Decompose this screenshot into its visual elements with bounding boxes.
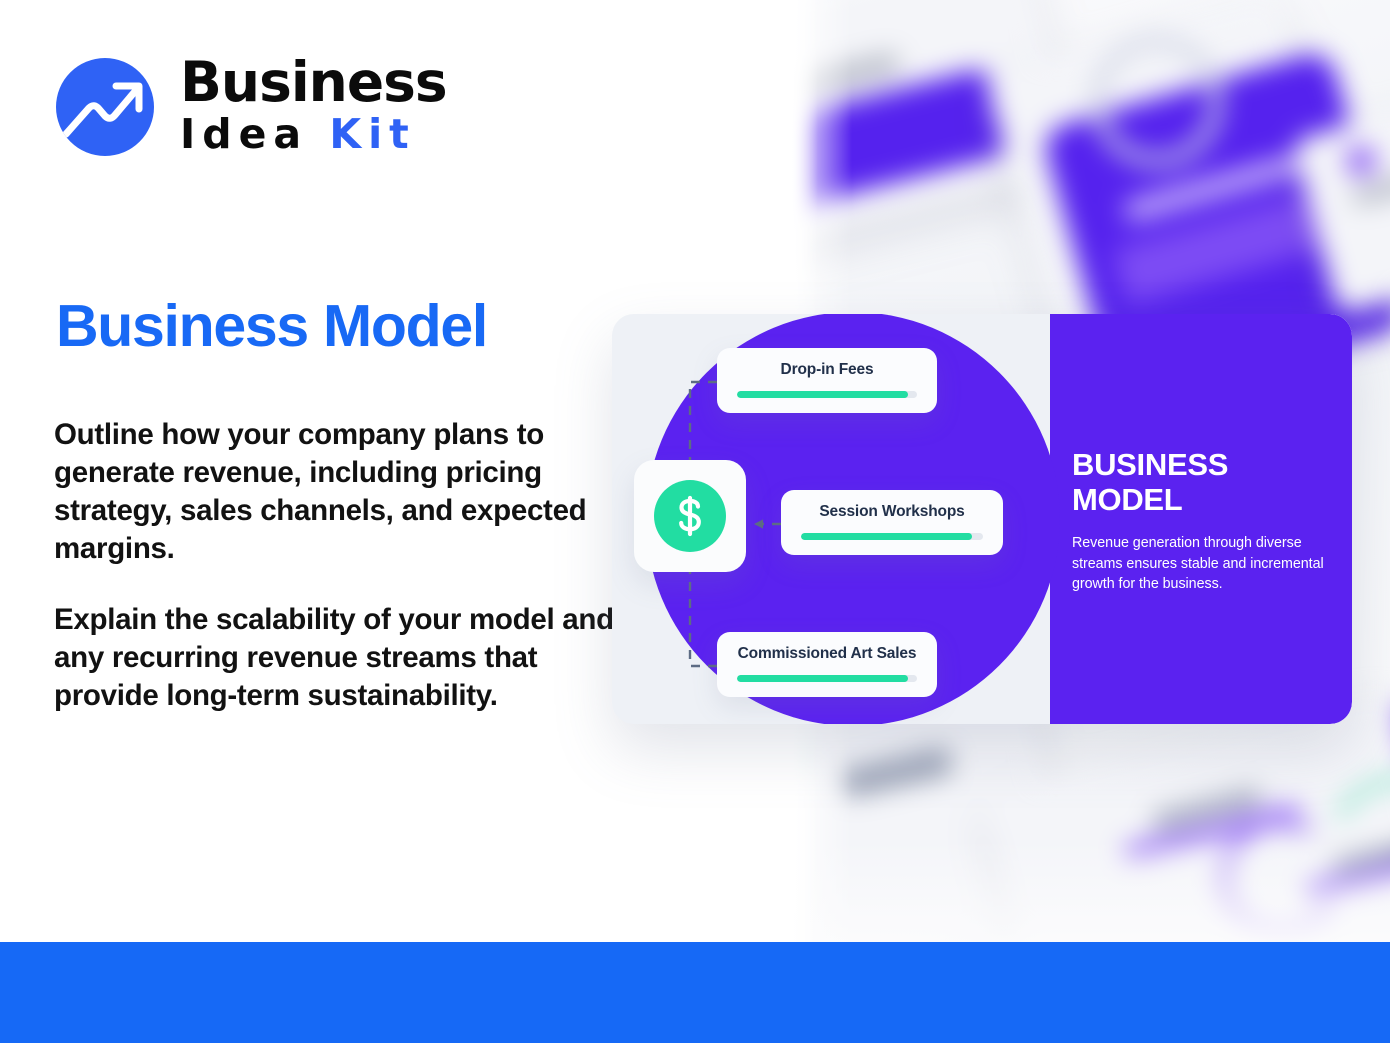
metric-label: Session Workshops xyxy=(801,503,983,521)
summary-panel-description: Revenue generation through diverse strea… xyxy=(1072,533,1334,594)
metric-progress-track xyxy=(737,675,917,682)
metric-progress-track xyxy=(801,533,983,540)
description-paragraph-2: Explain the scalability of your model an… xyxy=(54,601,614,715)
summary-panel-title: Business Model xyxy=(1072,448,1334,517)
metric-progress-fill xyxy=(737,675,908,682)
page-title: Business Model xyxy=(56,296,487,358)
description-block: Outline how your company plans to genera… xyxy=(54,416,614,715)
brand-name-line2: Idea Kit xyxy=(180,111,447,158)
metric-progress-fill xyxy=(737,391,908,398)
metric-label: Drop-in Fees xyxy=(737,361,917,379)
metric-progress-fill xyxy=(801,533,972,540)
slide-root: Business Idea Kit Business Model Outline… xyxy=(0,0,1390,1043)
brand-name-idea: Idea xyxy=(180,110,308,158)
metric-progress-track xyxy=(737,391,917,398)
description-paragraph-1: Outline how your company plans to genera… xyxy=(54,416,614,568)
metric-card[interactable]: Session Workshops xyxy=(781,490,1003,555)
brand-wordmark: Business Idea Kit xyxy=(180,56,447,158)
brand-logo: Business Idea Kit xyxy=(56,56,447,158)
business-model-diagram-card: Drop-in Fees Session Workshops Commissio… xyxy=(612,314,1352,724)
metric-label: Commissioned Art Sales xyxy=(737,645,917,663)
brand-name-line1: Business xyxy=(180,56,447,108)
metric-card[interactable]: Commissioned Art Sales xyxy=(717,632,937,697)
dollar-sign-icon xyxy=(654,480,726,552)
trending-up-arrow-icon xyxy=(56,58,154,156)
metric-card[interactable]: Drop-in Fees xyxy=(717,348,937,413)
revenue-hub xyxy=(634,460,746,572)
summary-panel-content: Business Model Revenue generation throug… xyxy=(1072,448,1334,594)
brand-name-kit: Kit xyxy=(329,110,415,158)
footer-bar xyxy=(0,942,1390,1043)
